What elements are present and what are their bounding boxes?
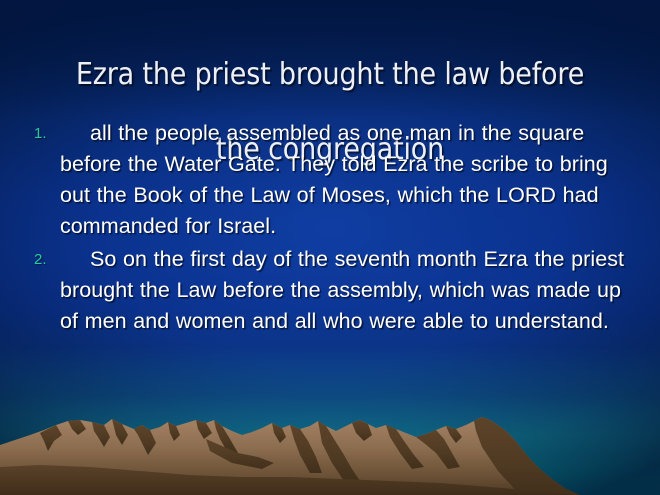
numbered-list: 1. all the people assembled as one man i… [28, 118, 632, 339]
list-item: 1. all the people assembled as one man i… [28, 118, 632, 242]
page-title-line-1: Ezra the priest brought the law before [76, 57, 584, 92]
list-item-number: 2. [28, 244, 60, 275]
list-item-text: all the people assembled as one man in t… [60, 118, 632, 242]
list-item-number: 1. [28, 118, 60, 149]
presentation-slide: Ezra the priest brought the law before t… [0, 0, 660, 495]
list-item: 2. So on the first day of the seventh mo… [28, 244, 632, 337]
list-item-text: So on the first day of the seventh month… [60, 244, 632, 337]
mountain-range-silhouette [0, 395, 660, 495]
